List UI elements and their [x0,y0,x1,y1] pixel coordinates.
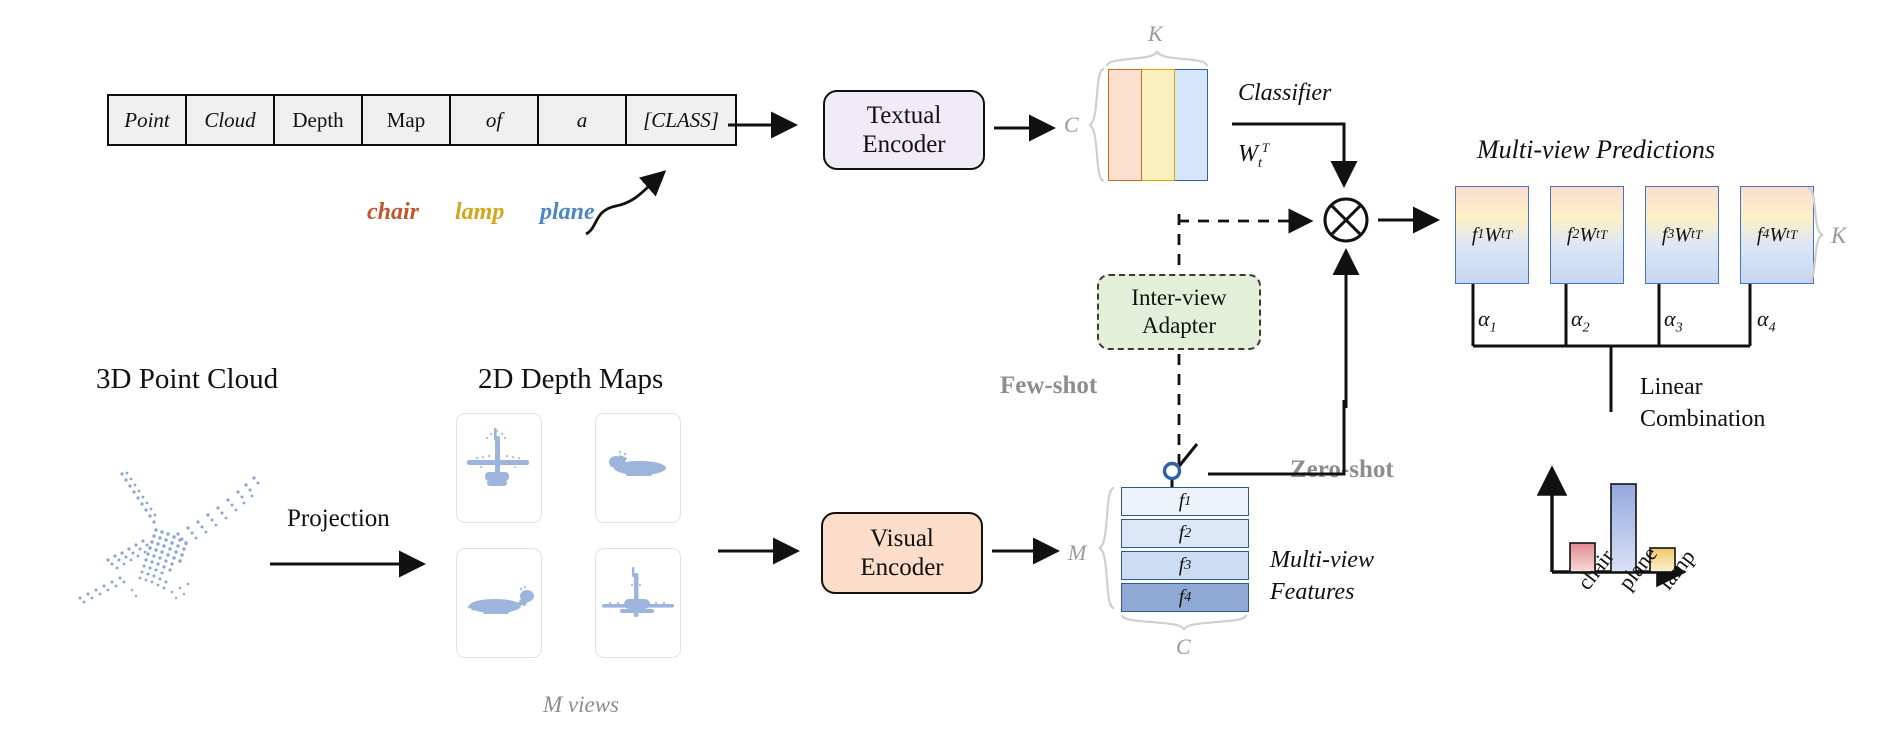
prompt-token-depth: Depth [275,96,363,144]
alpha-label-4: α4 [1757,306,1776,336]
classifier-column-plane [1175,69,1208,181]
feature-row-1: f1 [1121,487,1249,516]
prompt-template-table: Point Cloud Depth Map of a [CLASS] [107,94,737,146]
prompt-token-a: a [539,96,627,144]
feature-row-3: f3 [1121,551,1249,580]
adapter-line2: Adapter [1142,312,1216,340]
depth-map-rear-side-view-icon [457,549,541,657]
class-word-lamp: lamp [455,199,504,226]
depth-map-top-view-icon [596,549,680,657]
features-c-brace [1120,613,1250,633]
point-cloud-title: 3D Point Cloud [96,363,278,396]
classifier-title-label: Classifier [1238,80,1331,107]
features-m-brace [1096,486,1116,610]
visual-encoder-line2: Encoder [860,553,943,583]
classifier-dim-c-label: C [1064,112,1079,138]
textual-encoder-line1: Textual [867,101,942,131]
arrow-projection [270,550,435,578]
arrow-depthmaps-to-visual-encoder [718,536,808,566]
multi-view-features-caption: Multi-view Features [1270,544,1374,609]
alpha-label-3: α3 [1664,306,1683,336]
multi-view-predictions-title: Multi-view Predictions [1477,135,1715,165]
depth-map-tile-rear-side-view [456,548,542,658]
prompt-token-map: Map [363,96,451,144]
arrow-operator-to-predictions [1378,205,1450,235]
arrow-visual-encoder-to-features [992,536,1072,566]
feature-row-2: f2 [1121,519,1249,548]
classifier-column-lamp [1142,69,1175,181]
classifier-dim-k-label: K [1148,21,1163,47]
depth-map-side-view-icon [596,414,680,522]
alpha-label-1: α1 [1478,306,1497,336]
textual-encoder-line2: Encoder [862,130,945,160]
depth-map-front-view-icon [457,414,541,522]
classifier-column-chair [1108,69,1142,181]
features-dim-c-label: C [1176,634,1191,660]
depth-map-tile-top-view [595,548,681,658]
visual-encoder-box[interactable]: Visual Encoder [821,512,983,594]
projection-label: Projection [287,505,390,533]
few-shot-label: Few-shot [1000,372,1097,400]
class-insert-arrow-icon [570,150,700,240]
classifier-c-brace [1086,67,1106,183]
arrow-prompt-to-textual-encoder [728,110,806,140]
arrow-textual-encoder-to-classifier [994,113,1066,143]
arrow-classifier-to-operator [1230,120,1410,215]
prediction-box-2: f2WtT [1550,186,1624,284]
linear-combination-label: Linear Combination [1640,371,1765,436]
prompt-token-class: [CLASS] [627,96,735,144]
inter-view-adapter-box[interactable]: Inter-view Adapter [1097,274,1261,350]
predictions-dim-k-label: K [1831,223,1846,249]
depth-map-tile-side-view [595,413,681,523]
arrow-zeroshot-to-operator [1332,250,1360,410]
classifier-weight-matrix [1108,69,1208,179]
prediction-box-1: f1WtT [1455,186,1529,284]
diagram-canvas: Point Cloud Depth Map of a [CLASS] chair… [0,0,1882,746]
depth-map-tile-front-view [456,413,542,523]
arrow-adapter-to-operator-dashed [1178,206,1324,236]
multi-view-feature-stack: f1 f2 f3 f4 [1121,487,1249,615]
prompt-token-point: Point [109,96,187,144]
depth-maps-title: 2D Depth Maps [478,363,663,396]
prompt-token-of: of [451,96,539,144]
m-views-caption: M views [543,692,619,718]
classifier-k-brace [1105,48,1211,68]
predictions-k-brace [1806,186,1826,284]
matrix-multiply-operator-icon [1322,196,1370,244]
multi-view-prediction-boxes: f1WtT f2WtT f3WtT f4WtT [1455,186,1814,284]
point-cloud-visual [68,440,298,620]
prompt-token-cloud: Cloud [187,96,275,144]
prediction-box-3: f3WtT [1645,186,1719,284]
textual-encoder-box[interactable]: Textual Encoder [823,90,985,170]
feature-row-4: f4 [1121,583,1249,612]
adapter-line1: Inter-view [1131,284,1226,312]
visual-encoder-line1: Visual [870,524,934,554]
alpha-label-2: α2 [1571,306,1590,336]
prediction-box-4: f4WtT [1740,186,1814,284]
class-word-chair: chair [367,199,419,226]
